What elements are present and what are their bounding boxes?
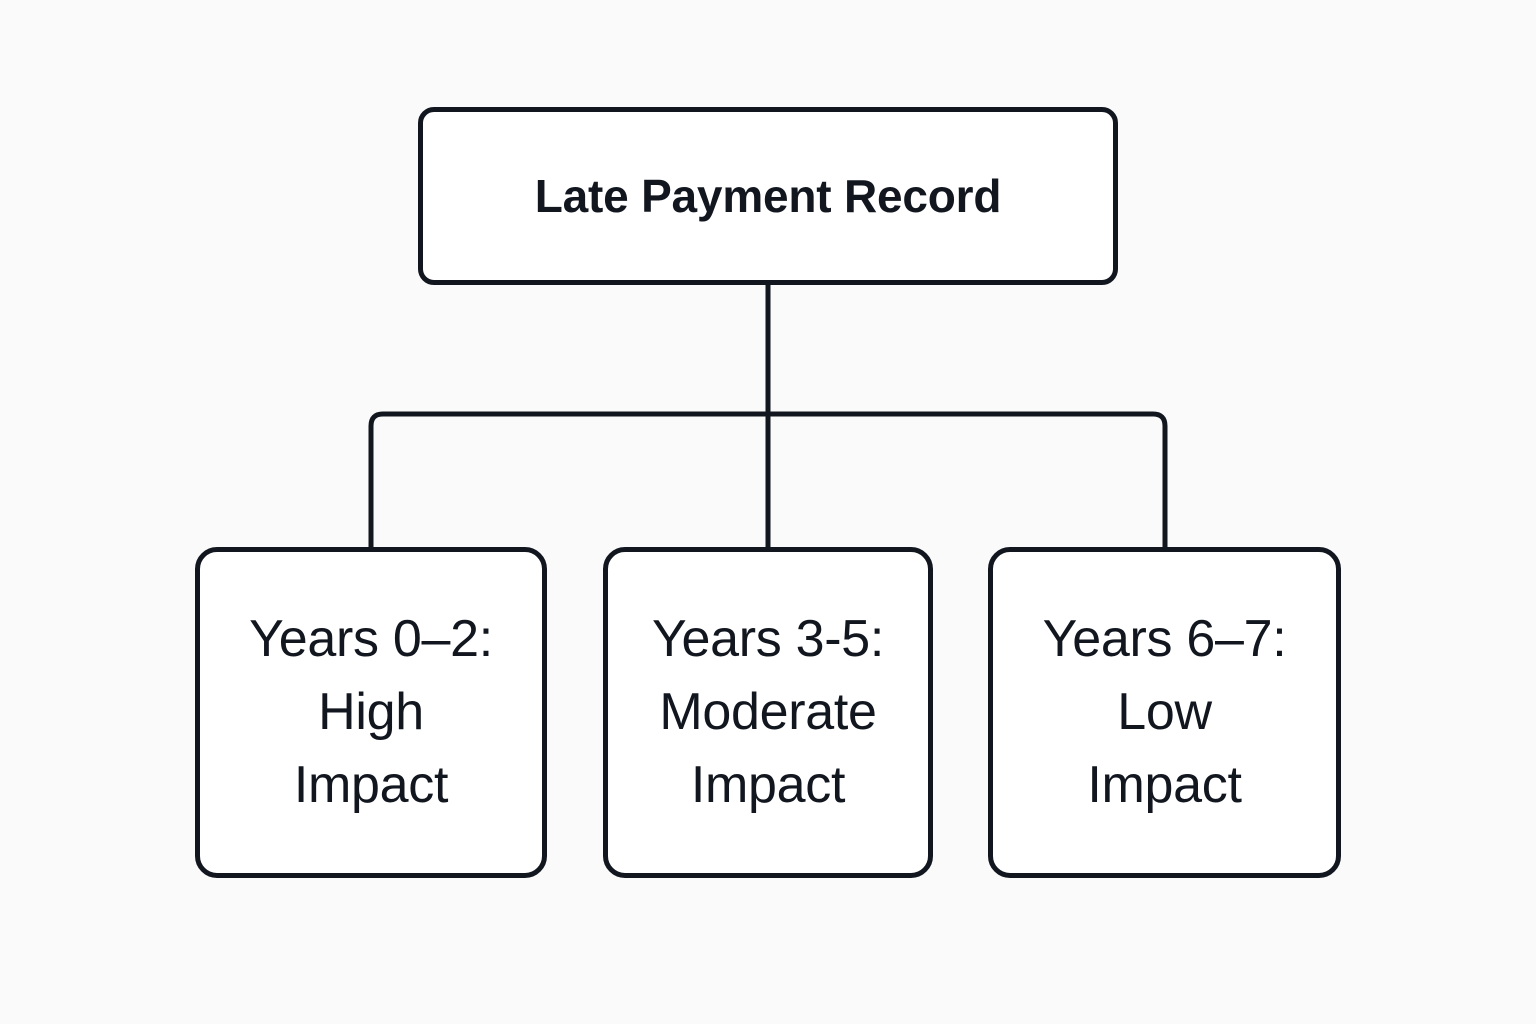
connector-horizontal-bus <box>371 414 1165 547</box>
diagram-canvas: Late Payment Record Years 0–2: High Impa… <box>0 0 1536 1024</box>
node-child-line-2: High <box>318 683 424 741</box>
node-child-label: Years 0–2: High Impact <box>239 603 503 821</box>
node-root-label: Late Payment Record <box>535 170 1002 223</box>
node-child-years-0-2[interactable]: Years 0–2: High Impact <box>195 547 547 878</box>
node-child-years-6-7[interactable]: Years 6–7: Low Impact <box>988 547 1341 878</box>
node-child-label: Years 6–7: Low Impact <box>1033 603 1297 821</box>
node-child-label: Years 3-5: Moderate Impact <box>642 603 894 821</box>
node-child-line-1: Years 0–2: <box>249 610 493 668</box>
node-root[interactable]: Late Payment Record <box>418 107 1118 285</box>
node-child-line-3: Impact <box>294 756 448 814</box>
node-child-line-1: Years 3-5: <box>652 610 884 668</box>
node-child-line-1: Years 6–7: <box>1043 610 1287 668</box>
node-child-line-2: Low <box>1117 683 1212 741</box>
node-child-years-3-5[interactable]: Years 3-5: Moderate Impact <box>603 547 933 878</box>
node-child-line-2: Moderate <box>659 683 876 741</box>
node-child-line-3: Impact <box>691 756 845 814</box>
node-child-line-3: Impact <box>1087 756 1241 814</box>
